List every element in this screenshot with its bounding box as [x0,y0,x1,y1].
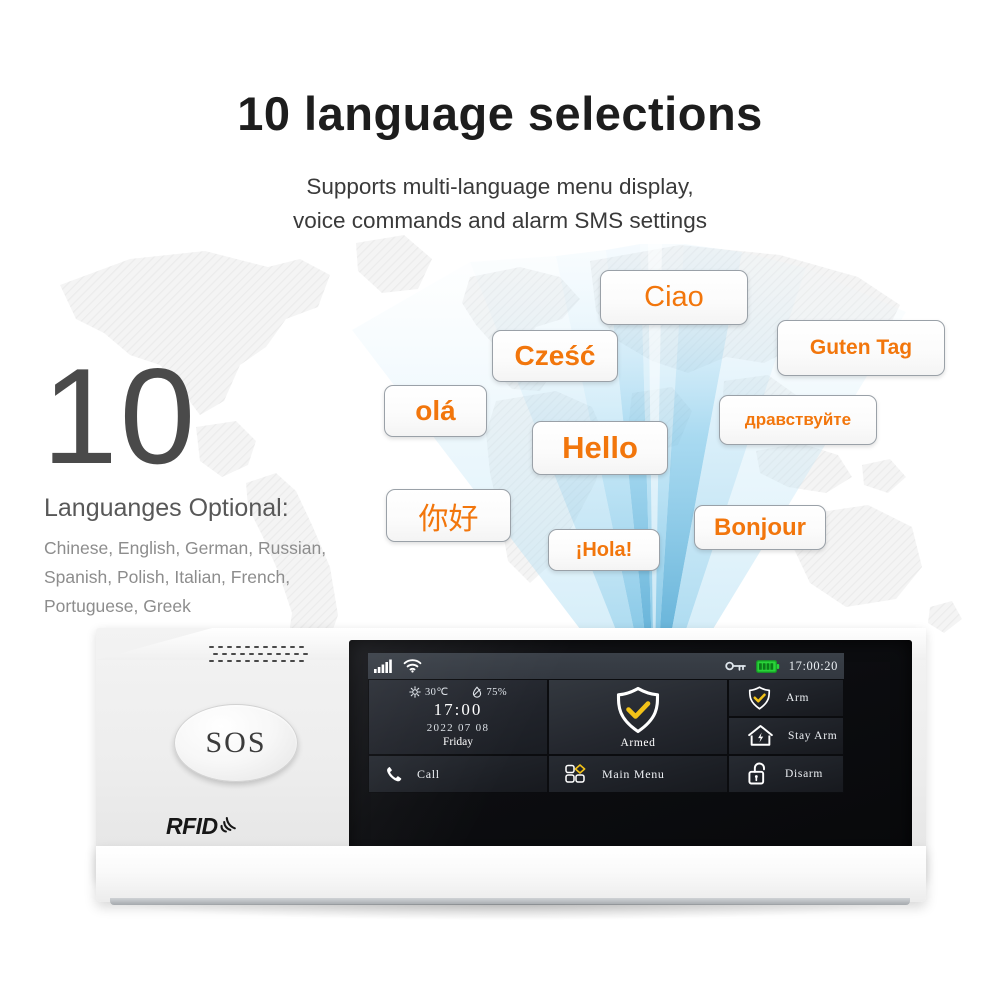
speaker-hole [303,653,308,655]
speaker-hole [227,646,232,648]
speaker-hole [218,660,223,662]
speaker-hole [285,653,290,655]
big-number-10: 10 [42,352,197,480]
status-bar: 17:00:20 [368,653,844,679]
speaker-hole [254,660,259,662]
clock-weekday: Friday [443,736,473,748]
greeting-bubble-spanish: ¡Hola! [548,529,660,571]
disarm-button-label: Disarm [785,768,823,780]
speaker-hole [227,660,232,662]
greeting-bubble-label: ¡Hola! [576,539,633,562]
subtitle-line-1: Supports multi-language menu display, [0,170,1000,204]
stay-arm-button[interactable]: Stay Arm [728,717,844,755]
device-body: SOS RFID [96,628,926,880]
signal-bars-icon [374,659,394,673]
greeting-bubble-polish: Cześć [492,330,618,382]
phone-icon [385,765,404,784]
speaker-hole [267,653,272,655]
speaker-hole [272,660,277,662]
screen-right-column: Arm Stay Arm [728,679,844,793]
humidity-icon [471,686,483,698]
info-tile: 30℃ [368,679,548,755]
screen-grid: 30℃ [368,679,844,793]
greeting-bubble-label: Cześć [515,340,596,372]
clock-time: 17:00 [434,700,483,720]
speaker-hole [290,660,295,662]
main-menu-button-label: Main Menu [602,767,665,782]
temperature-icon [409,686,421,698]
screen-left-column: 30℃ [368,679,548,793]
speaker-hole [222,653,227,655]
disarm-button[interactable]: Disarm [728,755,844,793]
home-bolt-icon [747,724,774,747]
speaker-hole [290,646,295,648]
speaker-hole [245,660,250,662]
temperature-value: 30℃ [425,686,449,698]
device-front-bezel [96,846,926,902]
speaker-hole [231,653,236,655]
greeting-bubble-french: Bonjour [694,505,826,550]
greeting-bubble-russian: дравствуйте [719,395,877,445]
languages-line-3: Portuguese, Greek [44,592,394,621]
speaker-hole [281,660,286,662]
armed-status-label: Armed [621,737,656,749]
greeting-bubble-chinese: 你好 [386,489,511,542]
rfid-wave-icon [220,813,240,833]
wifi-icon [403,659,422,673]
temp-humidity-row: 30℃ [409,686,507,698]
speaker-hole [209,646,214,648]
page-title: 10 language selections [0,86,1000,141]
speaker-hole [240,653,245,655]
sos-button[interactable]: SOS [174,704,298,782]
languages-line-2: Spanish, Polish, Italian, French, [44,563,394,592]
speaker-hole [299,646,304,648]
screen-middle-column: Armed [548,679,728,793]
speaker-hole [209,660,214,662]
arm-button-label: Arm [786,692,809,704]
main-menu-button[interactable]: Main Menu [548,755,728,793]
speaker-hole [213,653,218,655]
humidity-readout: 75% [471,686,507,698]
speaker-hole [245,646,250,648]
padlock-open-icon [747,761,771,786]
status-clock: 17:00:20 [789,659,838,674]
call-button-label: Call [417,767,440,782]
arm-button[interactable]: Arm [728,679,844,717]
greeting-bubble-label: Ciao [644,281,704,314]
languages-list: Chinese, English, German, Russian, Spani… [44,534,394,621]
page-subtitle: Supports multi-language menu display, vo… [0,170,1000,238]
greeting-bubble-label: Hello [562,430,638,466]
greeting-bubble-italian: Ciao [600,270,748,325]
greeting-bubble-german: Guten Tag [777,320,945,376]
shield-check-icon [747,686,772,710]
speaker-hole [218,646,223,648]
temperature-readout: 30℃ [409,686,449,698]
speaker-hole [263,660,268,662]
greeting-bubble-label: Bonjour [714,514,806,542]
greeting-bubble-label: дравствуйте [745,410,851,430]
speaker-hole [281,646,286,648]
grid-menu-icon [565,764,589,784]
device-touchscreen[interactable]: 17:00:20 [349,640,912,862]
device-drop-shadow [126,904,896,920]
greeting-bubble-label: olá [415,395,455,427]
greeting-bubble-portuguese: olá [384,385,487,437]
call-button[interactable]: Call [368,755,548,793]
rfid-logo: RFID [166,813,240,840]
clock-date: 2022 07 08 [427,722,490,734]
greeting-bubble-label: 你好 [419,494,479,538]
poster-canvas: 10 language selections Supports multi-la… [0,0,1000,1000]
speaker-hole [249,653,254,655]
greeting-bubble-label: Guten Tag [810,336,912,360]
key-icon [725,660,747,672]
humidity-value: 75% [487,687,507,698]
speaker-hole [236,646,241,648]
shield-check-icon [613,686,663,734]
alarm-panel-device: SOS RFID [96,628,926,918]
speaker-hole [299,660,304,662]
speaker-hole [258,653,263,655]
speaker-hole [272,646,277,648]
languages-line-1: Chinese, English, German, Russian, [44,534,394,563]
speaker-hole [263,646,268,648]
screen-ui: 17:00:20 [368,653,844,793]
languages-optional-label: Languanges Optional: [44,494,289,523]
armed-status-tile[interactable]: Armed [548,679,728,755]
rfid-label: RFID [166,813,218,840]
sos-button-label: SOS [205,726,266,760]
speaker-hole [276,653,281,655]
speaker-hole [254,646,259,648]
stay-arm-button-label: Stay Arm [788,730,837,742]
speaker-hole [294,653,299,655]
battery-full-icon [756,660,780,673]
subtitle-line-2: voice commands and alarm SMS settings [0,204,1000,238]
speaker-hole [236,660,241,662]
greeting-bubble-english: Hello [532,421,668,475]
speaker-grille [209,646,309,666]
